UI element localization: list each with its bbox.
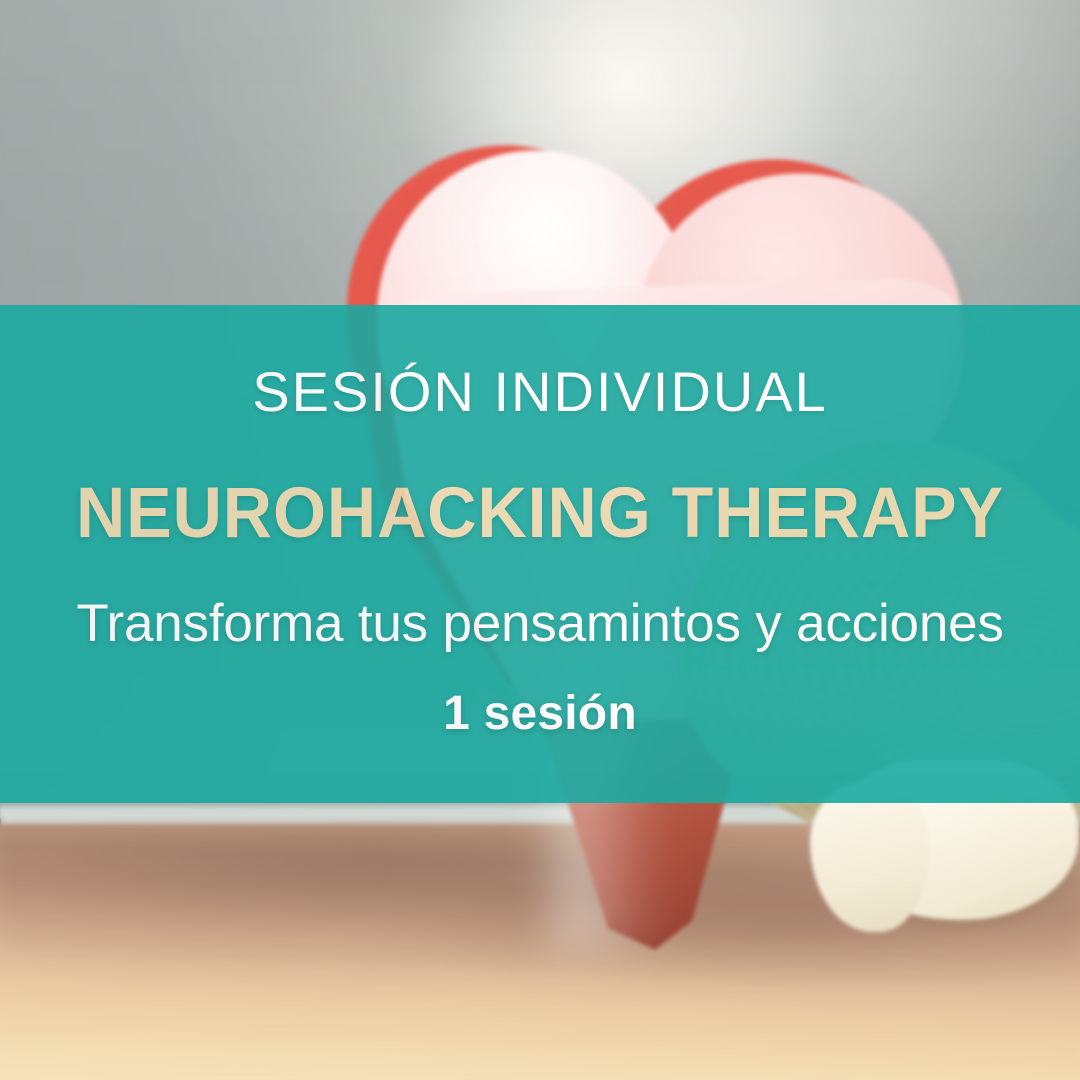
headline-title: NEUROHACKING THERAPY <box>22 478 1059 549</box>
band-content: SESIÓN INDIVIDUAL NEUROHACKING THERAPY T… <box>0 364 1080 738</box>
brain-stem-lower <box>810 782 930 932</box>
promo-card: 9 9 SESIÓN INDIVIDUAL NEUROHACKING THERA… <box>0 0 1080 1080</box>
subheadline-text: Transforma tus pensamintos y acciones <box>0 597 1080 650</box>
session-duration-text: 1 sesión <box>0 690 1080 738</box>
teal-overlay-band: SESIÓN INDIVIDUAL NEUROHACKING THERAPY T… <box>0 305 1080 803</box>
eyebrow-text: SESIÓN INDIVIDUAL <box>0 364 1080 420</box>
